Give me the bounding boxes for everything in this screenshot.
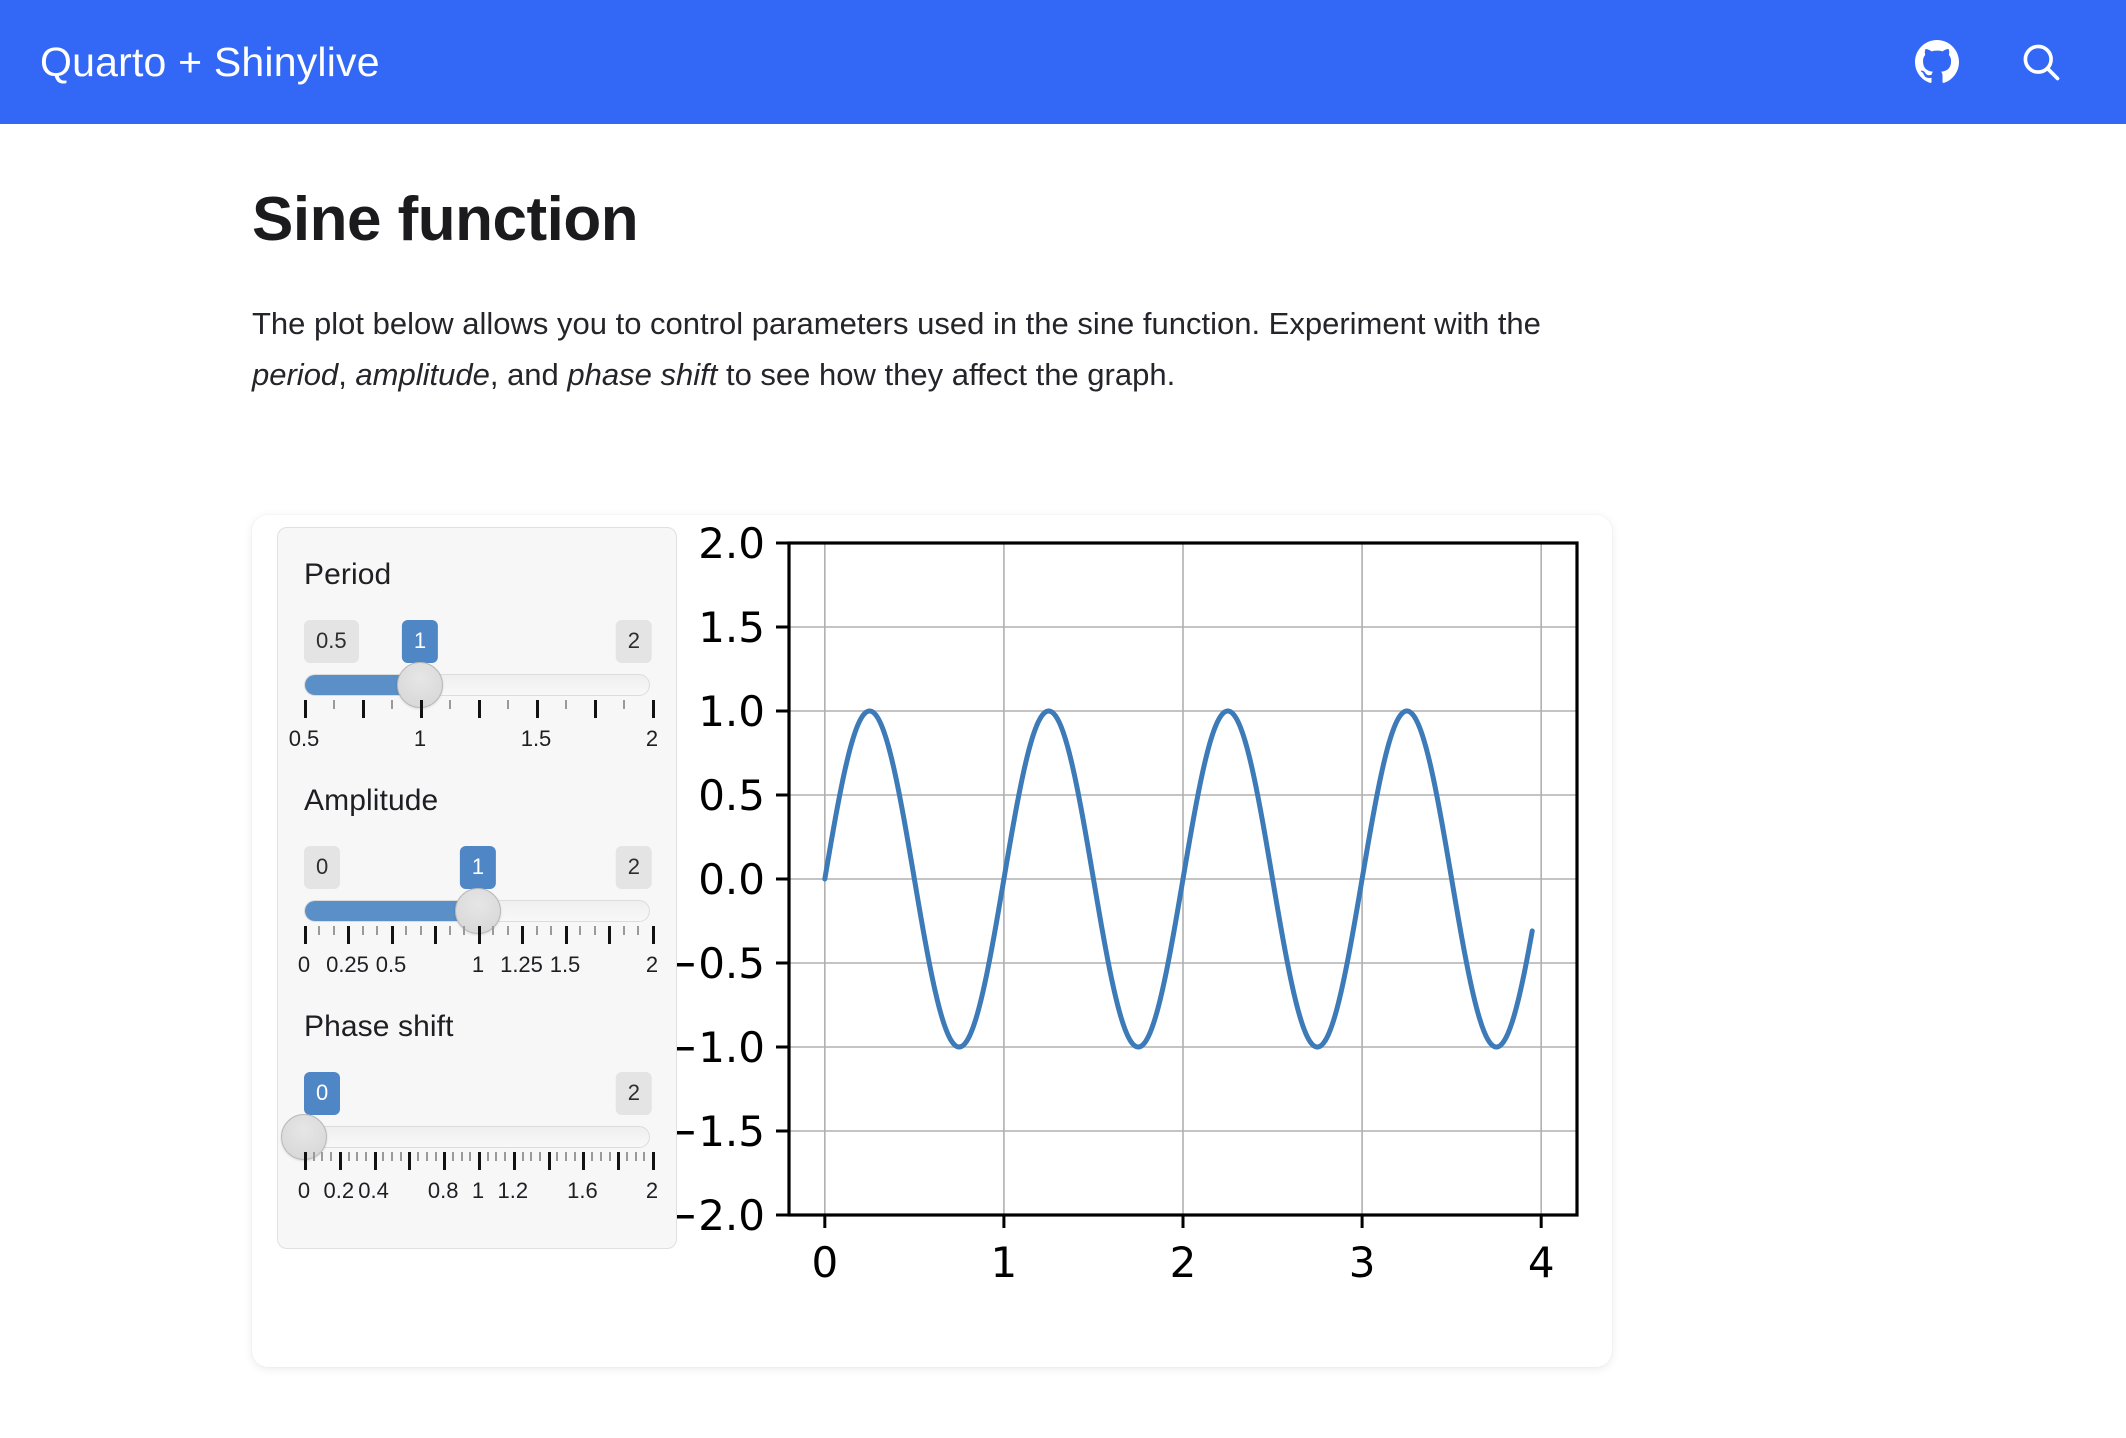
slider-tick bbox=[333, 926, 335, 935]
slider-tick bbox=[652, 700, 655, 718]
slider-tick bbox=[330, 1152, 332, 1161]
slider-tick bbox=[405, 926, 407, 935]
slider-tick bbox=[382, 1152, 384, 1161]
page-description: The plot below allows you to control par… bbox=[252, 299, 1582, 399]
slider-control-phase-shift: Phase shift02000.20.40.811.21.62 bbox=[304, 1010, 650, 1224]
slider-tick-label: 0.4 bbox=[358, 1178, 389, 1204]
slider-tick bbox=[362, 700, 365, 718]
slider-tick-labels-period: 0.511.52 bbox=[304, 726, 650, 756]
y-tick-label: 0.5 bbox=[698, 771, 765, 820]
slider-tick bbox=[565, 1152, 567, 1161]
slider-tick bbox=[376, 926, 378, 935]
x-tick-label: 1 bbox=[991, 1238, 1018, 1287]
desc-text-2: to see how they affect the graph. bbox=[717, 357, 1175, 392]
slider-label-period: Period bbox=[304, 558, 650, 592]
slider-min-label-period: 0.5 bbox=[304, 620, 359, 663]
slider-rail-phase-shift[interactable] bbox=[304, 1126, 650, 1148]
slider-tick bbox=[333, 700, 335, 709]
slider-tick bbox=[594, 926, 596, 935]
desc-sep-2: , and bbox=[490, 357, 568, 392]
slider-value-badge-phase-shift: 0 bbox=[304, 1072, 340, 1115]
slider-tick-label: 2 bbox=[646, 952, 658, 978]
slider-tick-label: 0 bbox=[298, 952, 310, 978]
navbar-title: Quarto + Shinylive bbox=[40, 39, 380, 86]
desc-emphasis-period: period bbox=[252, 357, 338, 392]
slider-tick bbox=[434, 926, 437, 944]
slider-tick bbox=[449, 926, 451, 935]
slider-tick bbox=[652, 1152, 655, 1170]
slider-tick-label: 0.8 bbox=[428, 1178, 459, 1204]
slider-tick-label: 0.5 bbox=[289, 726, 320, 752]
slider-tick bbox=[522, 1152, 524, 1161]
slider-fill-amplitude bbox=[305, 901, 477, 921]
slider-tick bbox=[617, 1152, 620, 1170]
slider-tick bbox=[391, 700, 393, 709]
slider-tick bbox=[623, 700, 625, 709]
navbar: Quarto + Shinylive bbox=[0, 0, 2126, 124]
slider-period[interactable]: 0.5210.511.52 bbox=[304, 620, 650, 772]
slider-tick bbox=[609, 1152, 611, 1161]
slider-tick bbox=[321, 1152, 323, 1161]
y-tick-label: 1.5 bbox=[698, 603, 765, 652]
slider-ticks-amplitude bbox=[304, 926, 650, 948]
slider-tick bbox=[469, 1152, 471, 1161]
slider-tick-label: 0 bbox=[298, 1178, 310, 1204]
slider-amplitude[interactable]: 02100.250.511.251.52 bbox=[304, 846, 650, 998]
slider-tick bbox=[400, 1152, 402, 1161]
slider-tick bbox=[487, 1152, 489, 1161]
slider-tick bbox=[347, 926, 350, 944]
slider-tick bbox=[478, 926, 481, 944]
slider-tick bbox=[626, 1152, 628, 1161]
x-tick-label: 0 bbox=[811, 1238, 838, 1287]
x-tick-label: 3 bbox=[1349, 1238, 1376, 1287]
slider-tick-label: 2 bbox=[646, 1178, 658, 1204]
sine-plot: 01234−2.0−1.5−1.0−0.50.00.51.01.52.0 bbox=[677, 515, 1607, 1367]
slider-tick bbox=[356, 1152, 358, 1161]
x-tick-label: 2 bbox=[1170, 1238, 1197, 1287]
slider-tick bbox=[574, 1152, 576, 1161]
slider-max-label-amplitude: 2 bbox=[616, 846, 652, 889]
slider-tick bbox=[374, 1152, 377, 1170]
slider-tick bbox=[635, 1152, 637, 1161]
slider-tick bbox=[461, 1152, 463, 1161]
slider-max-label-phase-shift: 2 bbox=[616, 1072, 652, 1115]
slider-tick bbox=[507, 926, 509, 935]
slider-tick bbox=[348, 1152, 350, 1161]
slider-phase-shift[interactable]: 02000.20.40.811.21.62 bbox=[304, 1072, 650, 1224]
slider-tick bbox=[600, 1152, 602, 1161]
slider-tick-label: 0.5 bbox=[376, 952, 407, 978]
desc-emphasis-amplitude: amplitude bbox=[355, 357, 489, 392]
slider-value-badge-amplitude: 1 bbox=[460, 846, 496, 889]
slider-tick bbox=[643, 1152, 645, 1161]
slider-label-phase-shift: Phase shift bbox=[304, 1010, 650, 1044]
slider-rail-period[interactable] bbox=[304, 674, 650, 696]
slider-tick-label: 1.25 bbox=[500, 952, 543, 978]
slider-control-amplitude: Amplitude02100.250.511.251.52 bbox=[304, 784, 650, 998]
slider-tick bbox=[417, 1152, 419, 1161]
slider-tick bbox=[420, 926, 422, 935]
slider-tick bbox=[495, 1152, 497, 1161]
y-tick-label: 0.0 bbox=[698, 855, 765, 904]
slider-tick bbox=[365, 1152, 367, 1161]
slider-tick bbox=[426, 1152, 428, 1161]
slider-tick bbox=[463, 926, 465, 935]
desc-emphasis-phase-shift: phase shift bbox=[567, 357, 717, 392]
slider-tick bbox=[565, 926, 568, 944]
y-tick-label: −1.5 bbox=[677, 1107, 765, 1156]
x-tick-label: 4 bbox=[1528, 1238, 1555, 1287]
slider-tick bbox=[530, 1152, 532, 1161]
slider-value-row-period: 0.521 bbox=[304, 620, 650, 662]
desc-sep-1: , bbox=[338, 357, 355, 392]
slider-control-period: Period0.5210.511.52 bbox=[304, 558, 650, 772]
slider-tick bbox=[536, 926, 538, 935]
slider-tick bbox=[313, 1152, 315, 1161]
slider-tick bbox=[304, 700, 307, 718]
slider-min-label-amplitude: 0 bbox=[304, 846, 340, 889]
slider-tick bbox=[304, 926, 307, 944]
slider-tick bbox=[548, 1152, 551, 1170]
slider-tick-label: 1 bbox=[472, 952, 484, 978]
slider-ticks-phase-shift bbox=[304, 1152, 650, 1174]
slider-tick bbox=[391, 926, 394, 944]
slider-tick-label: 0.25 bbox=[326, 952, 369, 978]
y-tick-label: −0.5 bbox=[677, 939, 765, 988]
slider-value-badge-period: 1 bbox=[402, 620, 438, 663]
slider-tick bbox=[565, 700, 567, 709]
github-icon[interactable] bbox=[1914, 39, 1960, 85]
page-title: Sine function bbox=[252, 184, 1852, 255]
slider-tick bbox=[339, 1152, 342, 1170]
slider-tick bbox=[507, 700, 509, 709]
slider-tick bbox=[550, 926, 552, 935]
slider-tick bbox=[652, 926, 655, 944]
controls-sidebar: Period0.5210.511.52Amplitude02100.250.51… bbox=[277, 527, 677, 1249]
navbar-tools bbox=[1914, 39, 2064, 85]
slider-tick bbox=[637, 926, 639, 935]
slider-tick bbox=[420, 700, 423, 718]
search-icon[interactable] bbox=[2018, 39, 2064, 85]
slider-tick bbox=[594, 700, 597, 718]
slider-tick bbox=[492, 926, 494, 935]
slider-tick bbox=[391, 1152, 393, 1161]
slider-tick bbox=[449, 700, 451, 709]
slider-tick-label: 2 bbox=[646, 726, 658, 752]
slider-tick bbox=[623, 926, 625, 935]
slider-tick bbox=[536, 700, 539, 718]
slider-value-row-phase-shift: 020 bbox=[304, 1072, 650, 1114]
slider-tick bbox=[582, 1152, 585, 1170]
slider-tick-label: 1.5 bbox=[550, 952, 581, 978]
page-body: Sine function The plot below allows you … bbox=[0, 124, 2126, 1438]
slider-tick bbox=[591, 1152, 593, 1161]
slider-tick-label: 1 bbox=[472, 1178, 484, 1204]
slider-tick bbox=[304, 1152, 307, 1170]
slider-tick bbox=[408, 1152, 411, 1170]
slider-tick-label: 1.5 bbox=[521, 726, 552, 752]
slider-tick-labels-phase-shift: 00.20.40.811.21.62 bbox=[304, 1178, 650, 1208]
slider-tick bbox=[539, 1152, 541, 1161]
y-tick-label: −2.0 bbox=[677, 1191, 765, 1240]
slider-tick bbox=[608, 926, 611, 944]
slider-tick bbox=[513, 1152, 516, 1170]
slider-tick bbox=[452, 1152, 454, 1161]
slider-tick bbox=[556, 1152, 558, 1161]
slider-tick bbox=[521, 926, 524, 944]
y-tick-label: 2.0 bbox=[698, 519, 765, 568]
slider-tick bbox=[443, 1152, 446, 1170]
slider-label-amplitude: Amplitude bbox=[304, 784, 650, 818]
article-header: Sine function The plot below allows you … bbox=[252, 184, 1852, 400]
slider-tick-label: 1 bbox=[414, 726, 426, 752]
slider-tick-label: 1.6 bbox=[567, 1178, 598, 1204]
slider-value-row-amplitude: 021 bbox=[304, 846, 650, 888]
slider-tick-labels-amplitude: 00.250.511.251.52 bbox=[304, 952, 650, 982]
slider-tick-label: 1.2 bbox=[498, 1178, 529, 1204]
slider-tick bbox=[579, 926, 581, 935]
slider-tick bbox=[478, 700, 481, 718]
y-tick-label: −1.0 bbox=[677, 1023, 765, 1072]
y-tick-label: 1.0 bbox=[698, 687, 765, 736]
slider-tick bbox=[318, 926, 320, 935]
desc-text-1: The plot below allows you to control par… bbox=[252, 306, 1541, 341]
slider-ticks-period bbox=[304, 700, 650, 722]
plot-output: 01234−2.0−1.5−1.0−0.50.00.51.01.52.0 bbox=[677, 515, 1612, 1367]
slider-tick-label: 0.2 bbox=[324, 1178, 355, 1204]
slider-tick bbox=[478, 1152, 481, 1170]
slider-tick bbox=[504, 1152, 506, 1161]
slider-max-label-period: 2 bbox=[616, 620, 652, 663]
shinylive-app-card: Period0.5210.511.52Amplitude02100.250.51… bbox=[252, 515, 1612, 1367]
slider-tick bbox=[435, 1152, 437, 1161]
slider-tick bbox=[362, 926, 364, 935]
